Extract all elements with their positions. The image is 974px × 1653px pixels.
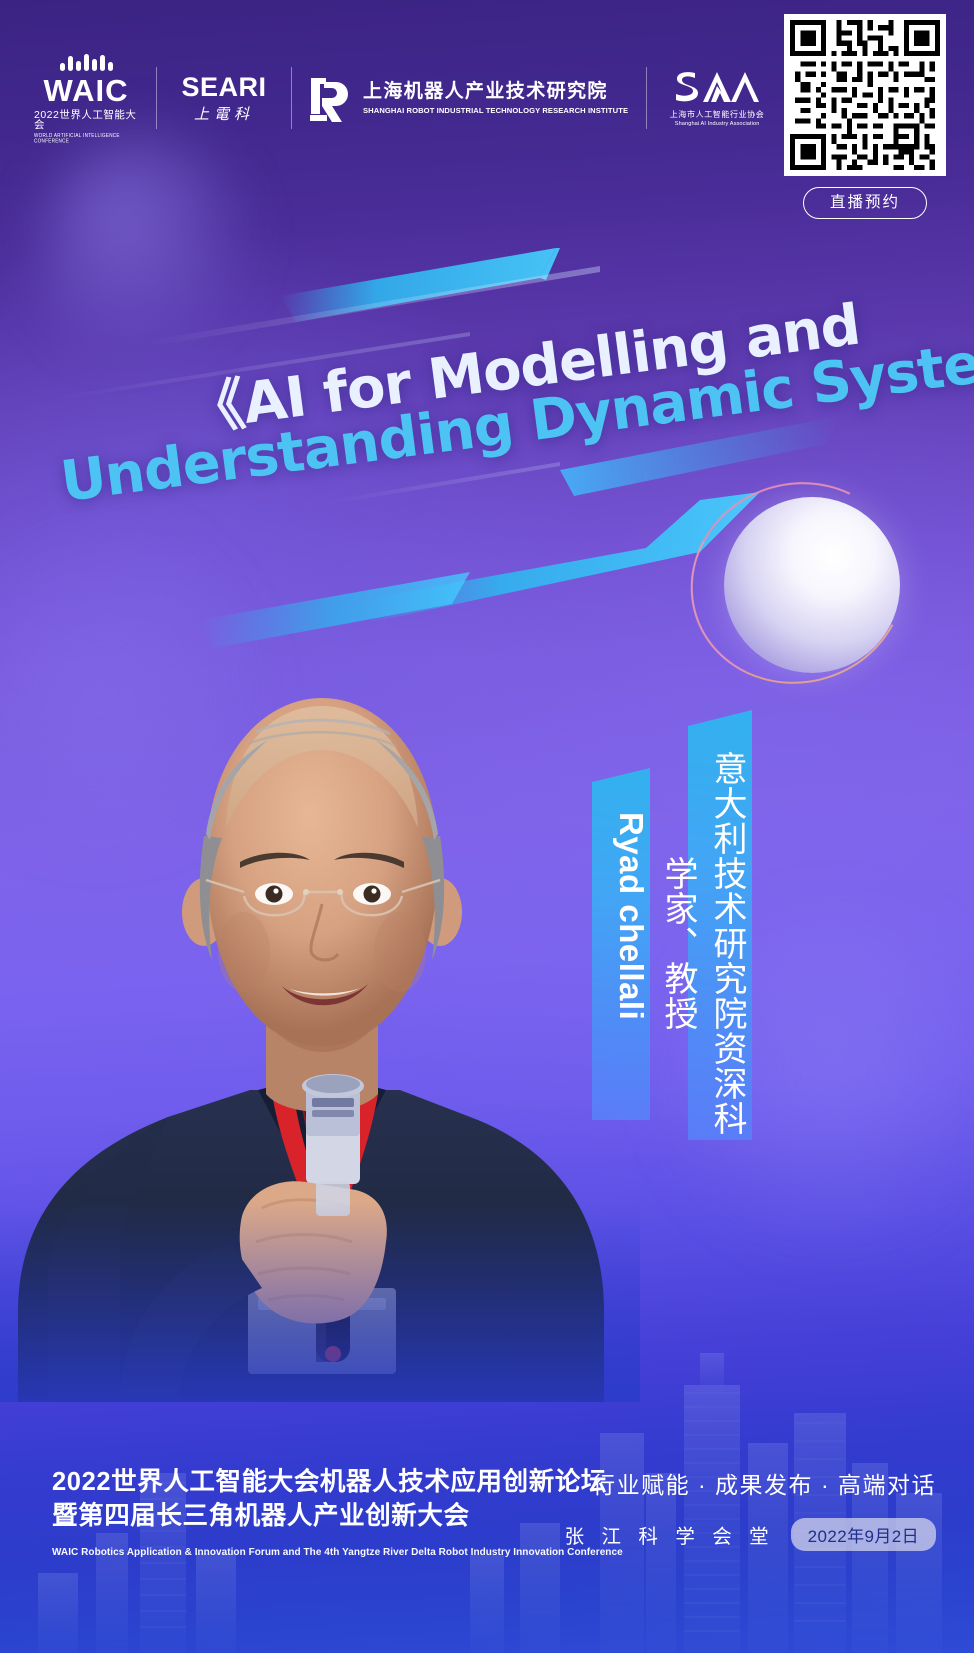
logo-divider-2 [291, 67, 292, 129]
logo-divider-1 [156, 67, 157, 129]
waic-dots-icon [60, 53, 113, 71]
footer-date-badge: 2022年9月2日 [791, 1518, 936, 1551]
waic-chinese-name: 2022世界人工智能大会 [34, 110, 138, 131]
robot-institute-chinese-name: 上海机器人产业技术研究院 [363, 82, 628, 103]
robot-institute-english-name: SHANGHAI ROBOT INDUSTRIAL TECHNOLOGY RES… [363, 107, 628, 115]
speaker-role-panel: 意大利技术研究院资深科学家、教授 [688, 710, 752, 1140]
waic-wordmark: WAIC [44, 75, 129, 106]
footer-right: 行业赋能 · 成果发布 · 高端对话 张 江 科 学 会 堂 2022年9月2日 [565, 1471, 936, 1551]
logo-seari: SEARI 上電科 [175, 74, 273, 122]
saia-chinese-name: 上海市人工智能行业协会 [670, 111, 765, 119]
partner-logo-bar: WAIC 2022世界人工智能大会 WORLD ARTIFICIAL INTEL… [34, 55, 769, 141]
speaker-name: Ryad chellali [592, 768, 650, 1020]
speaker-name-panel: Ryad chellali [592, 768, 650, 1120]
footer-title-english: WAIC Robotics Application & Innovation F… [52, 1547, 572, 1558]
logo-shanghai-robot-institute: 上海机器人产业技术研究院 SHANGHAI ROBOT INDUSTRIAL T… [310, 74, 628, 122]
waic-english-name: WORLD ARTIFICIAL INTELLIGENCE CONFERENCE [34, 133, 138, 143]
logo-saia: 上海市人工智能行业协会 Shanghai AI Industry Associa… [665, 69, 769, 128]
speaker-role: 意大利技术研究院资深科学家、教授 [688, 710, 752, 1140]
logo-divider-3 [646, 67, 647, 129]
logo-waic: WAIC 2022世界人工智能大会 WORLD ARTIFICIAL INTEL… [34, 53, 138, 143]
footer-venue: 张 江 科 学 会 堂 [565, 1520, 775, 1549]
speaker-photo [0, 612, 640, 1402]
robot-institute-mark-icon [310, 74, 352, 122]
livestream-booking-button[interactable]: 直播预约 [803, 187, 927, 219]
glossy-sphere [724, 497, 900, 673]
conference-poster: WAIC 2022世界人工智能大会 WORLD ARTIFICIAL INTEL… [0, 0, 974, 1653]
qr-code-icon[interactable] [784, 14, 946, 176]
livestream-qr-block[interactable]: 直播预约 [784, 14, 946, 219]
saia-wordmark-icon [673, 69, 761, 105]
seari-wordmark: SEARI [181, 74, 266, 101]
seari-chinese-name: 上電科 [194, 107, 254, 122]
footer-left: 2022世界人工智能大会机器人技术应用创新论坛 暨第四届长三角机器人产业创新大会… [52, 1466, 572, 1558]
footer-title-line-2: 暨第四届长三角机器人产业创新大会 [52, 1500, 572, 1534]
footer-title-line-1: 2022世界人工智能大会机器人技术应用创新论坛 [52, 1466, 572, 1500]
sphere-graphic [706, 485, 920, 699]
saia-english-name: Shanghai AI Industry Association [675, 122, 760, 128]
footer-tagline: 行业赋能 · 成果发布 · 高端对话 [565, 1471, 936, 1501]
